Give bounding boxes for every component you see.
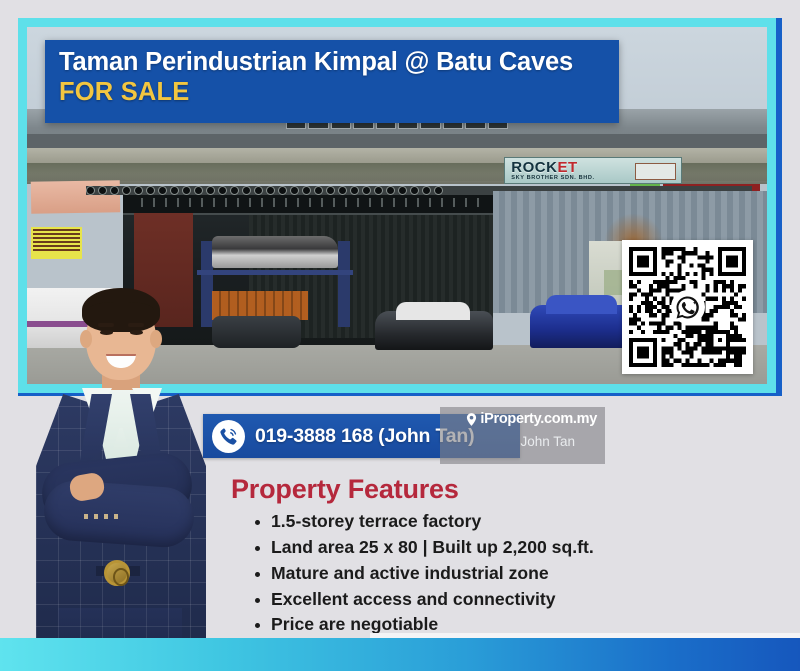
agent-eye-left xyxy=(100,330,113,335)
car-lift-post-right xyxy=(338,241,350,327)
shop-sign-peach xyxy=(30,180,119,214)
list-item: Excellent access and connectivity xyxy=(253,587,731,613)
iproperty-watermark: iProperty.com.my John Tan xyxy=(440,407,605,464)
agent-hair xyxy=(82,288,160,332)
features-heading: Property Features xyxy=(231,474,731,505)
qr-canvas-wrap xyxy=(629,247,746,367)
agent-eyebrow-left xyxy=(98,323,114,327)
agent-ear-left xyxy=(80,330,92,348)
agent-eyebrow-right xyxy=(128,323,144,327)
whatsapp-icon xyxy=(671,290,705,324)
status-badge: FOR SALE xyxy=(59,77,605,108)
list-item: Mature and active industrial zone xyxy=(253,561,731,587)
lifted-car xyxy=(212,236,338,268)
agent-eye-right xyxy=(130,330,143,335)
features-list: 1.5-storey terrace factory Land area 25 … xyxy=(231,509,731,638)
parked-car-dark-left xyxy=(212,316,301,348)
rocket-battery-image xyxy=(635,163,676,181)
property-features-section: Property Features 1.5-storey terrace fac… xyxy=(231,474,731,638)
rocket-signboard: ROCKET SKY BROTHER SDN. BHD. xyxy=(504,157,682,184)
upper-facade-shadow xyxy=(27,134,767,148)
car-lift-arm xyxy=(197,270,352,276)
whatsapp-qr-code[interactable] xyxy=(622,240,753,374)
location-pin-icon xyxy=(466,413,477,426)
parked-car-dark xyxy=(375,311,493,350)
listing-title: Taman Perindustrian Kimpal @ Batu Caves xyxy=(59,47,605,77)
watermark-agent-name: John Tan xyxy=(520,434,575,449)
advertisement-page: ROCKET SKY BROTHER SDN. BHD. xyxy=(0,0,800,671)
canopy-truss xyxy=(131,198,486,207)
list-item: Land area 25 x 80 | Built up 2,200 sq.ft… xyxy=(253,535,731,561)
phone-call-icon xyxy=(212,420,245,453)
agent-cuff-buttons xyxy=(84,514,124,519)
agent-portrait xyxy=(22,278,214,671)
bottom-gradient-bar xyxy=(0,638,800,671)
watermark-brand-row: iProperty.com.my xyxy=(466,411,597,427)
list-item: 1.5-storey terrace factory xyxy=(253,509,731,535)
agent-ear-right xyxy=(150,330,162,348)
shop-sign-yellow xyxy=(31,227,83,259)
watermark-brand-text: iProperty.com.my xyxy=(480,411,597,427)
agent-belt-buckle xyxy=(104,560,130,586)
title-banner: Taman Perindustrian Kimpal @ Batu Caves … xyxy=(45,40,619,123)
